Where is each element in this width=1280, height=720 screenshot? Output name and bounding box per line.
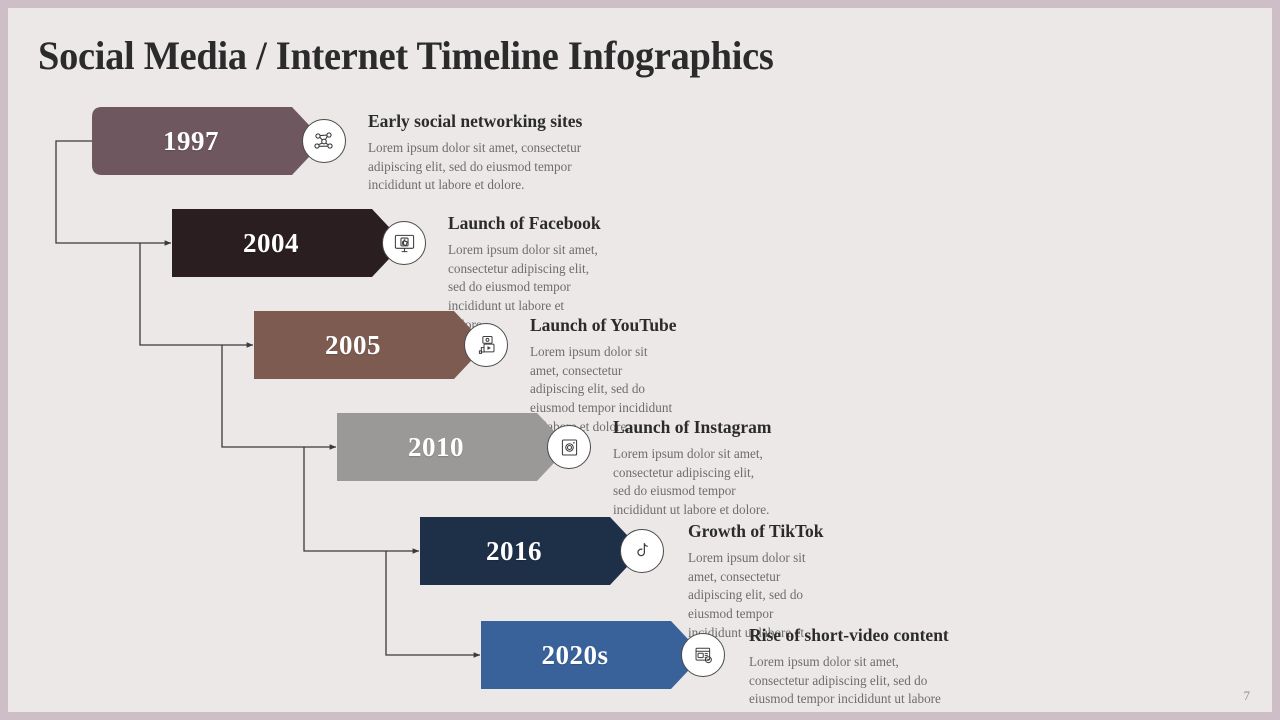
year-label: 2020s xyxy=(541,640,608,671)
slide: Social Media / Internet Timeline Infogra… xyxy=(0,0,1280,720)
year-label: 2005 xyxy=(325,330,381,361)
page-title: Social Media / Internet Timeline Infogra… xyxy=(38,32,773,79)
row-text: Rise of short-video content Lorem ipsum … xyxy=(749,625,949,712)
row-title: Launch of Instagram xyxy=(613,417,772,438)
year-label: 2010 xyxy=(408,432,464,463)
row-title: Growth of TikTok xyxy=(688,521,824,542)
row-title: Rise of short-video content xyxy=(749,625,949,646)
slide-canvas: Social Media / Internet Timeline Infogra… xyxy=(8,8,1272,712)
year-banner: 1997 xyxy=(92,107,324,175)
row-description: Lorem ipsum dolor sit amet, consectetur … xyxy=(749,653,949,712)
video-window-icon[interactable] xyxy=(681,633,725,677)
year-banner: 2010 xyxy=(337,413,569,481)
year-banner: 2020s xyxy=(481,621,703,689)
row-text: Early social networking sites Lorem ipsu… xyxy=(368,111,582,195)
camera-icon[interactable] xyxy=(547,425,591,469)
network-nodes-icon[interactable] xyxy=(302,119,346,163)
row-title: Launch of YouTube xyxy=(530,315,677,336)
page-number: 7 xyxy=(1244,688,1251,704)
row-description: Lorem ipsum dolor sit amet, consectetur … xyxy=(613,445,772,520)
row-description: Lorem ipsum dolor sit amet, consectetur … xyxy=(368,139,582,195)
year-label: 2016 xyxy=(486,536,542,567)
row-title: Early social networking sites xyxy=(368,111,582,132)
row-title: Launch of Facebook xyxy=(448,213,601,234)
video-play-icon[interactable] xyxy=(464,323,508,367)
year-label: 1997 xyxy=(163,126,219,157)
monitor-thumbsup-icon[interactable] xyxy=(382,221,426,265)
year-label: 2004 xyxy=(243,228,299,259)
year-banner: 2004 xyxy=(172,209,404,277)
year-banner: 2016 xyxy=(420,517,642,585)
year-banner: 2005 xyxy=(254,311,486,379)
music-note-icon[interactable] xyxy=(620,529,664,573)
row-text: Launch of Instagram Lorem ipsum dolor si… xyxy=(613,417,772,520)
